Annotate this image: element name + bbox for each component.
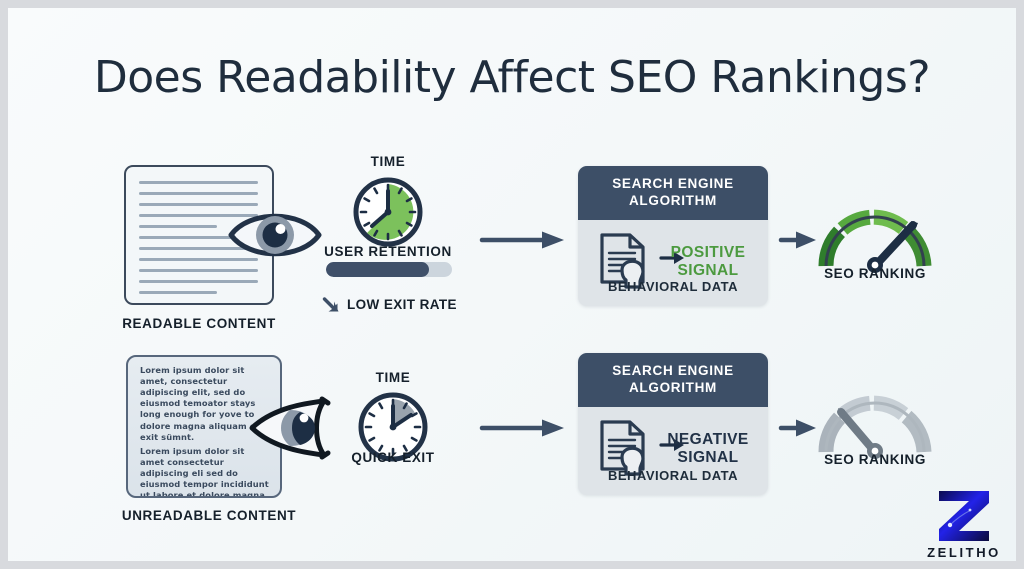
algorithm-header-line2: ALGORITHM (584, 193, 762, 210)
signal-line2-row2: SIGNAL (662, 449, 754, 466)
seo-ranking-label-row2: SEO RANKING (800, 452, 950, 467)
arrow-right-icon-row1-a (480, 230, 566, 250)
unreadable-content-caption: UNREADABLE CONTENT (64, 508, 354, 523)
open-eye-icon (227, 204, 323, 266)
low-exit-rate-label: LOW EXIT RATE (347, 297, 457, 312)
algorithm-card-row2: SEARCH ENGINE ALGORITHM (578, 353, 768, 495)
readable-content-caption: READABLE CONTENT (64, 316, 334, 331)
arrow-down-right-icon (321, 294, 341, 314)
algorithm-header-line1-row2: SEARCH ENGINE (584, 363, 762, 380)
page-title: Does Readability Affect SEO Rankings? (8, 52, 1016, 103)
zelitho-wordmark: ZELITHO (918, 545, 1010, 560)
signal-line1-row1: POSITIVE (662, 244, 754, 261)
quick-exit-label: QUICK EXIT (323, 450, 463, 465)
time-label-row2: TIME (333, 370, 453, 385)
behavioral-data-label-row1: BEHAVIORAL DATA (578, 279, 768, 294)
behavioral-data-label-row2: BEHAVIORAL DATA (578, 468, 768, 483)
signal-text-row2: NEGATIVE SIGNAL (662, 431, 754, 466)
infographic-canvas: Does Readability Affect SEO Rankings? RE… (8, 8, 1016, 561)
zelitho-logo: ZELITHO (918, 488, 1010, 560)
seo-ranking-label-row1: SEO RANKING (800, 266, 950, 281)
algorithm-header-line1: SEARCH ENGINE (584, 176, 762, 193)
squinting-eye-icon (248, 393, 334, 463)
algorithm-header-line2-row2: ALGORITHM (584, 380, 762, 397)
signal-line1-row2: NEGATIVE (662, 431, 754, 448)
signal-line2-row1: SIGNAL (662, 262, 754, 279)
time-label-row1: TIME (328, 154, 448, 169)
user-retention-progress-bar (326, 262, 452, 277)
user-retention-label: USER RETENTION (318, 244, 458, 259)
clock-icon-row1 (352, 176, 424, 248)
algorithm-card-header-row1: SEARCH ENGINE ALGORITHM (578, 166, 768, 220)
algorithm-card-header-row2: SEARCH ENGINE ALGORITHM (578, 353, 768, 407)
arrow-right-icon-row1-b (780, 230, 818, 250)
signal-text-row1: POSITIVE SIGNAL (662, 244, 754, 279)
algorithm-card-row1: SEARCH ENGINE ALGORITHM (578, 166, 768, 306)
arrow-right-icon-row2-b (780, 418, 818, 438)
low-exit-rate-row: LOW EXIT RATE (321, 294, 457, 314)
arrow-right-icon-row2-a (480, 418, 566, 438)
